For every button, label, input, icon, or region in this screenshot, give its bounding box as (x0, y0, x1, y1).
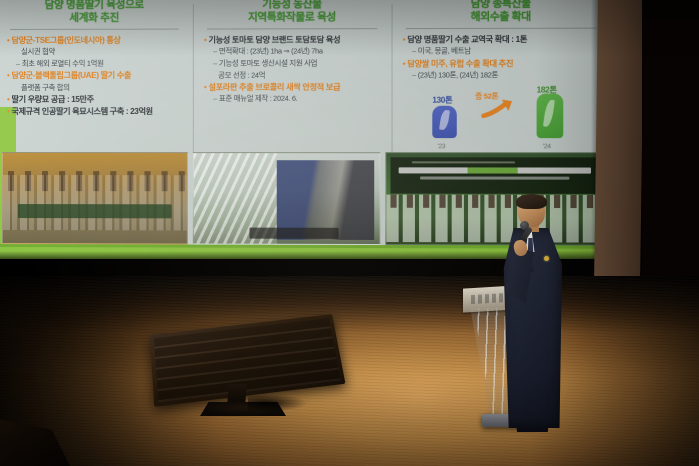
bullet-sub-item: 기능성 토마토 생산시설 지원 사업 (212, 58, 383, 69)
speaker-person (496, 196, 566, 428)
microphone-head-icon (520, 221, 529, 230)
title-divider (207, 28, 377, 29)
photo-signing-ceremony (2, 152, 188, 245)
bullet-list-functional-crops: 기능성 토마토 담양 브랜드 토담토담 육성 면적확대 : (23년) 1ha … (199, 34, 386, 105)
bullet-sub-item: 미국, 몽골, 베트남 (411, 46, 601, 57)
bullet-continuation: 플랫폼 구축 합의 (21, 82, 185, 92)
event-banner-title (399, 168, 591, 174)
bullet-list-strawberry: 담양군-TSE그룹(인도네시아) 통상 실시권 협약 최초 해외 로열티 수익 … (2, 35, 187, 118)
panel-title-line1: 기능성 농산물 (262, 0, 322, 10)
bullet-list-exports: 담양 명품딸기 수출 교역국 확대 : 1톤 미국, 몽골, 베트남 담양쌀 미… (398, 34, 601, 82)
panel-title-exports: 담양 종특산물 해외수출 확대 (398, 0, 601, 24)
bullet-item: 담양군-블랙툴립그룹(UAE) 딸기 수출 (6, 70, 185, 82)
panel-title-line2: 해외수출 확대 (398, 10, 601, 24)
bullet-item: 기능성 토마토 담양 브랜드 토담토담 육성 (203, 34, 383, 46)
photo-factory-visit (193, 152, 380, 245)
panel-title-line2: 세계화 추진 (2, 11, 187, 25)
event-attendee-heads (386, 195, 601, 208)
bullet-item: 담양군-TSE그룹(인도네시아) 통상 (6, 35, 185, 47)
event-banner (391, 157, 599, 194)
bullet-sub-item: (23년) 130톤, (24년) 182톤 (411, 71, 601, 82)
bullet-item: 담양 명품딸기 수출 교역국 확대 : 1톤 (402, 34, 601, 46)
bullet-item: 설포라판 추출 브로콜리 새싹 안정적 보급 (203, 81, 383, 93)
bullet-sub-item: 면적확대 : (23년) 1ha ⇒ (24년) 7ha (212, 47, 383, 58)
panel-title-strawberry: 담양 명품딸기 육성으로 세계화 추진 (2, 0, 187, 25)
panel-title-line1: 담양 종특산물 (471, 0, 531, 10)
bullet-sub-item: 표준 매뉴얼 제작 : 2024. 6. (212, 94, 383, 105)
monitor-vent-ribs (154, 318, 341, 402)
photo-export-shipping-event (385, 152, 601, 245)
bullet-continuation: 공모 선정 : 24억 (218, 70, 383, 80)
auditorium-scene: 담양 명품딸기 육성으로 세계화 추진 담양군-TSE그룹(인도네시아) 통상 … (0, 0, 699, 466)
panel-title-line1: 담양 명품딸기 육성으로 (45, 0, 144, 11)
growth-arrow-icon (481, 98, 516, 120)
bar-gloss-icon (543, 99, 555, 128)
speaker-hair (516, 194, 547, 209)
bar-gloss-icon (439, 110, 450, 131)
monitor-cables (248, 394, 308, 412)
confidence-monitor (152, 322, 340, 418)
bullet-sub-item: 최초 해외 로열티 수익 1억원 (15, 58, 185, 69)
monitor-back-panel (150, 314, 346, 407)
panel-title-line2: 지역특화작물로 육성 (199, 11, 386, 25)
bullet-item: 국제규격 인공딸기 육묘시스템 구축 : 23억원 (6, 106, 185, 117)
panel-title-functional-crops: 기능성 농산물 지역특화작물로 육성 (199, 0, 386, 25)
bullet-continuation: 실시권 협약 (21, 47, 185, 58)
event-banner-subtitle (411, 161, 515, 164)
lapel-pin-icon (544, 256, 549, 261)
bar-axis-label-2023: '23 (437, 143, 445, 150)
bullet-item: 담양쌀 미주, 유럽 수출 확대 추진 (402, 58, 601, 70)
title-divider (406, 28, 596, 29)
export-bar-chart: 130톤 '23 증 52톤 182톤 (402, 87, 601, 150)
wall-panel-brown (594, 0, 644, 300)
photo-caption-bar (249, 227, 338, 238)
bar-value-label-2023: 130톤 (432, 94, 452, 106)
bar-2023 (432, 106, 456, 138)
event-banner-details (420, 177, 570, 180)
photo-people-bodies (3, 175, 187, 231)
bar-2024 (537, 94, 564, 139)
title-divider (10, 29, 179, 30)
photo-banner (18, 204, 172, 218)
bar-axis-label-2024: '24 (543, 143, 551, 150)
bullet-item: 딸기 우량묘 공급 : 15만주 (6, 94, 185, 106)
wall-panel-dark (642, 0, 699, 300)
